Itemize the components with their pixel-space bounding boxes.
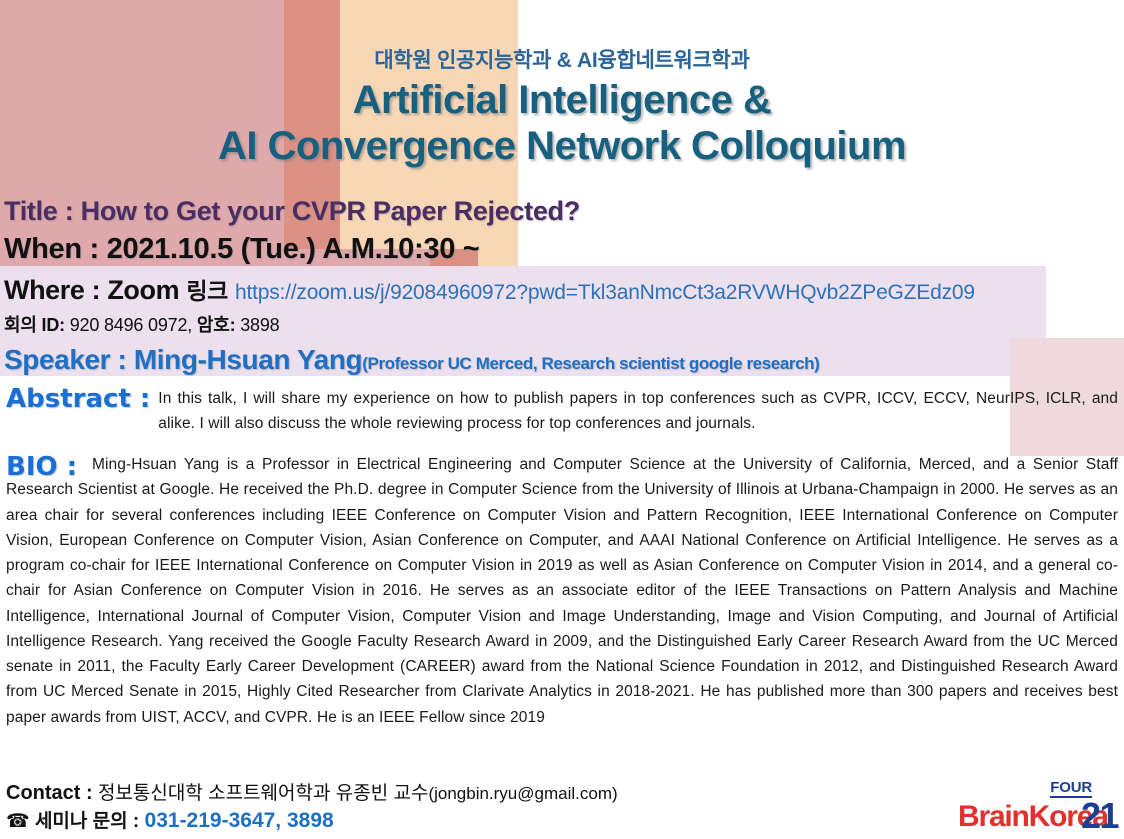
meeting-id-label: 회의 ID: <box>4 315 65 335</box>
speaker-label: Speaker : <box>4 344 126 375</box>
when-row: When : 2021.10.5 (Tue.) A.M.10:30 ~ <box>4 233 479 266</box>
speaker-affiliation: (Professor UC Merced, Research scientist… <box>362 354 819 373</box>
bio-text: Ming-Hsuan Yang is a Professor in Electr… <box>6 452 1118 730</box>
meeting-credentials-row: 회의 ID: 920 8496 0972, 암호: 3898 <box>4 311 279 337</box>
passcode-value: 3898 <box>240 315 279 335</box>
page-title-line2: AI Convergence Network Colloquium <box>0 124 1124 170</box>
telephone-icon: ☎ <box>6 811 30 832</box>
speaker-row: Speaker : Ming-Hsuan Yang(Professor UC M… <box>4 344 819 376</box>
bio-section: BIO : Ming-Hsuan Yang is a Professor in … <box>6 452 1118 730</box>
brainkorea21-logo: FOUR BrainKorea 21 <box>958 780 1118 832</box>
zoom-link[interactable]: https://zoom.us/j/92084960972?pwd=Tkl3an… <box>235 281 975 304</box>
poster-content: 대학원 인공지능학과 & AI융합네트워크학과 Artificial Intel… <box>0 0 1124 839</box>
when-value: 2021.10.5 (Tue.) A.M.10:30 ~ <box>107 233 480 265</box>
bio-label: BIO : <box>6 452 77 482</box>
where-value: Zoom <box>107 275 179 305</box>
page-title: Artificial Intelligence & AI Convergence… <box>0 78 1124 169</box>
contact-value: 정보통신대학 소프트웨어학과 유종빈 교수 <box>98 783 428 804</box>
abstract-text: In this talk, I will share my experience… <box>156 386 1118 436</box>
abstract-label: Abstract : <box>6 386 150 412</box>
when-label: When : <box>4 233 99 265</box>
where-row: Where : Zoom 링크 https://zoom.us/j/920849… <box>4 272 975 306</box>
talk-title-label: Title : <box>4 196 73 226</box>
contact-row: Contact : 정보통신대학 소프트웨어학과 유종빈 교수(jongbin.… <box>6 778 618 805</box>
contact-email[interactable]: (jongbin.ryu@gmail.com) <box>428 784 617 803</box>
contact-label: Contact : <box>6 782 93 804</box>
logo-21-text: 21 <box>1081 798 1118 834</box>
talk-title-value: How to Get your CVPR Paper Rejected? <box>81 196 580 226</box>
page-title-line1: Artificial Intelligence & <box>353 78 772 122</box>
passcode-label: 암호: <box>197 315 236 335</box>
where-label: Where : <box>4 275 100 305</box>
where-link-word: 링크 <box>186 278 228 304</box>
speaker-name: Ming-Hsuan Yang <box>134 344 362 375</box>
seminar-phone: 031-219-3647, 3898 <box>145 809 334 832</box>
meeting-id-value: 920 8496 0972, <box>70 315 192 335</box>
seminar-label: 세미나 문의 : <box>35 811 139 832</box>
abstract-section: Abstract : In this talk, I will share my… <box>6 386 1118 436</box>
seminar-inquiry-row: ☎ 세미나 문의 : 031-219-3647, 3898 <box>6 806 334 833</box>
talk-title-row: Title : How to Get your CVPR Paper Rejec… <box>4 196 580 227</box>
department-line: 대학원 인공지능학과 & AI융합네트워크학과 <box>0 44 1124 74</box>
bio-paragraph: Ming-Hsuan Yang is a Professor in Electr… <box>6 456 1118 726</box>
